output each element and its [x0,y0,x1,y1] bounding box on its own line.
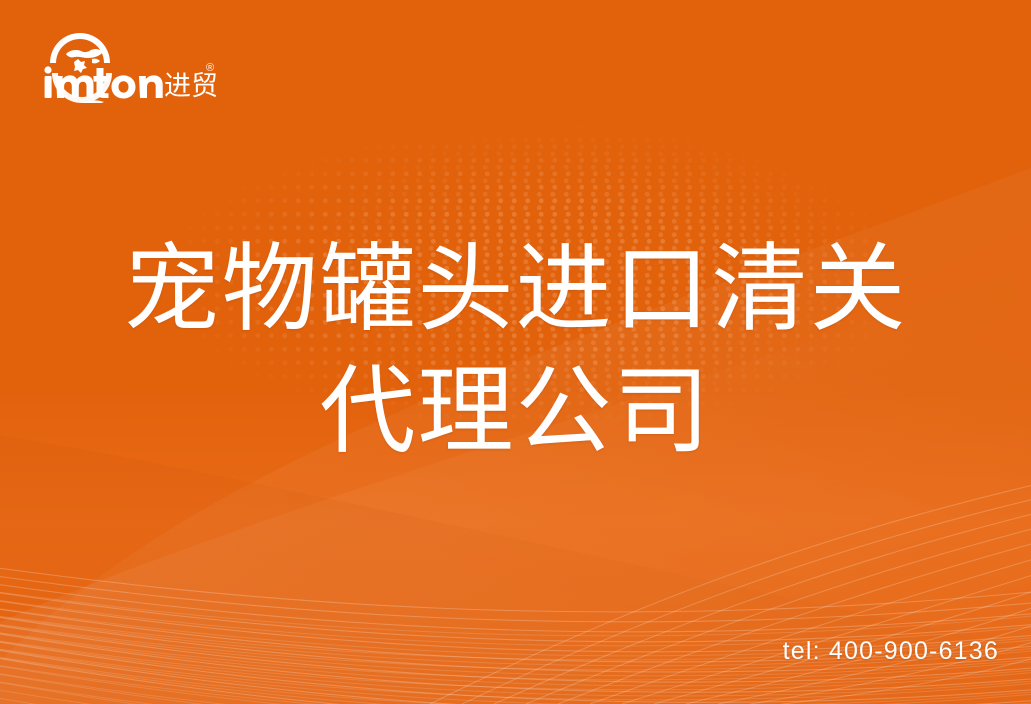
logo-chinese-text: 进贸通 [164,71,216,102]
headline: 宠物罐头进口清关 代理公司 [0,228,1031,472]
headline-line-1: 宠物罐头进口清关 [0,228,1031,350]
telephone-label[interactable]: tel: 400-900-6136 [783,637,999,666]
company-logo[interactable]: 进贸通 ® [36,27,216,103]
promo-banner: 进贸通 ® 宠物罐头进口清关 代理公司 tel: 400-900-6136 [0,0,1031,704]
logo-trademark-symbol: ® [206,62,214,74]
globe-swoosh-logo: 进贸通 ® [36,27,216,103]
headline-line-2: 代理公司 [0,350,1031,472]
